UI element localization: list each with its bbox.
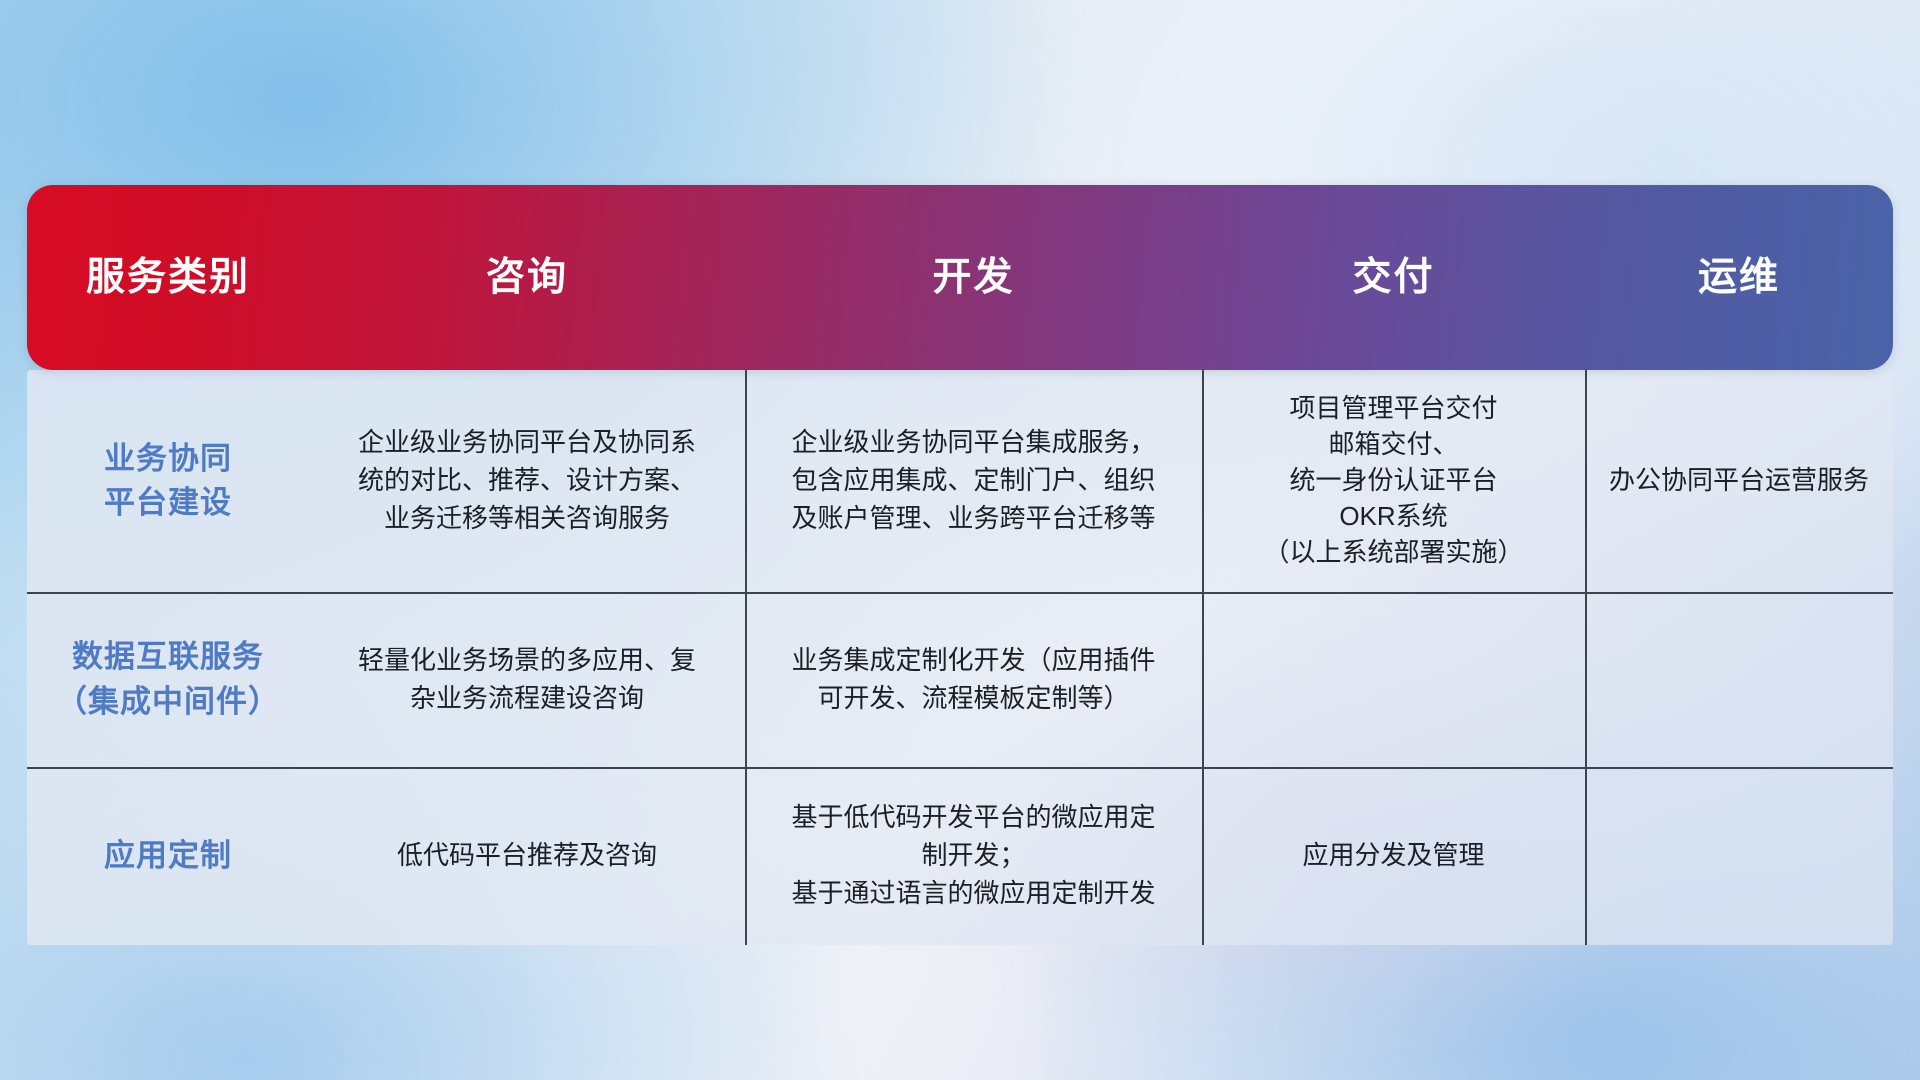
cell-text-consulting: 低代码平台推荐及咨询 [397,837,657,875]
cell-delivery: 应用分发及管理 [1202,767,1585,945]
cell-consulting: 企业级业务协同平台及协同系 统的对比、推荐、设计方案、 业务迁移等相关咨询服务 [309,370,745,592]
service-matrix-table: 服务类别 咨询 开发 交付 运维 业务协同 平台建设 企业级业务协同平台及协同系… [27,185,1893,971]
row-category-label: 业务协同 平台建设 [104,437,232,525]
row-category-cell: 数据互联服务 （集成中间件） [27,592,309,767]
column-header-delivery[interactable]: 交付 [1202,258,1585,297]
row-category-cell: 业务协同 平台建设 [27,370,309,592]
cell-consulting: 低代码平台推荐及咨询 [309,767,745,945]
cell-operations [1585,767,1893,945]
cell-consulting: 轻量化业务场景的多应用、复 杂业务流程建设咨询 [309,592,745,767]
table-row: 业务协同 平台建设 企业级业务协同平台及协同系 统的对比、推荐、设计方案、 业务… [27,370,1893,592]
cell-text-consulting: 企业级业务协同平台及协同系 统的对比、推荐、设计方案、 业务迁移等相关咨询服务 [358,424,696,537]
column-header-development[interactable]: 开发 [745,258,1202,297]
table-row: 应用定制 低代码平台推荐及咨询 基于低代码开发平台的微应用定 制开发； 基于通过… [27,767,1893,945]
column-header-service-category[interactable]: 服务类别 [27,258,309,297]
table-header-bar: 服务类别 咨询 开发 交付 运维 [27,185,1893,370]
table-rows: 业务协同 平台建设 企业级业务协同平台及协同系 统的对比、推荐、设计方案、 业务… [27,370,1893,945]
cell-delivery [1202,592,1585,767]
cell-delivery: 项目管理平台交付 邮箱交付、 统一身份认证平台 OKR系统 （以上系统部署实施） [1202,370,1585,592]
cell-text-development: 企业级业务协同平台集成服务， 包含应用集成、定制门户、组织 及账户管理、业务跨平… [791,424,1155,537]
cell-text-consulting: 轻量化业务场景的多应用、复 杂业务流程建设咨询 [358,642,696,717]
grid-vline-delivery-operations [1585,370,1587,945]
cell-operations: 办公协同平台运营服务 [1585,370,1893,592]
cell-text-delivery: 应用分发及管理 [1302,837,1484,875]
row-category-label: 数据互联服务 （集成中间件） [56,635,280,723]
grid-vline-development-delivery [1202,370,1204,945]
column-header-operations[interactable]: 运维 [1585,258,1893,297]
cell-development: 企业级业务协同平台集成服务， 包含应用集成、定制门户、组织 及账户管理、业务跨平… [745,370,1202,592]
grid-hline-row2-row3 [27,767,1893,769]
grid-vline-consulting-development [745,370,747,945]
cell-text-development: 业务集成定制化开发（应用插件 可开发、流程模板定制等） [791,642,1155,717]
row-category-cell: 应用定制 [27,767,309,945]
cell-development: 业务集成定制化开发（应用插件 可开发、流程模板定制等） [745,592,1202,767]
grid-hline-row1-row2 [27,592,1893,594]
slide-canvas: 服务类别 咨询 开发 交付 运维 业务协同 平台建设 企业级业务协同平台及协同系… [0,0,1920,1080]
row-category-label: 应用定制 [104,834,232,878]
cell-operations [1585,592,1893,767]
table-row: 数据互联服务 （集成中间件） 轻量化业务场景的多应用、复 杂业务流程建设咨询 业… [27,592,1893,767]
cell-development: 基于低代码开发平台的微应用定 制开发； 基于通过语言的微应用定制开发 [745,767,1202,945]
cell-text-delivery: 项目管理平台交付 邮箱交付、 统一身份认证平台 OKR系统 （以上系统部署实施） [1263,391,1523,570]
cell-text-development: 基于低代码开发平台的微应用定 制开发； 基于通过语言的微应用定制开发 [791,799,1155,912]
column-header-consulting[interactable]: 咨询 [309,258,745,297]
cell-text-operations: 办公协同平台运营服务 [1609,462,1869,500]
